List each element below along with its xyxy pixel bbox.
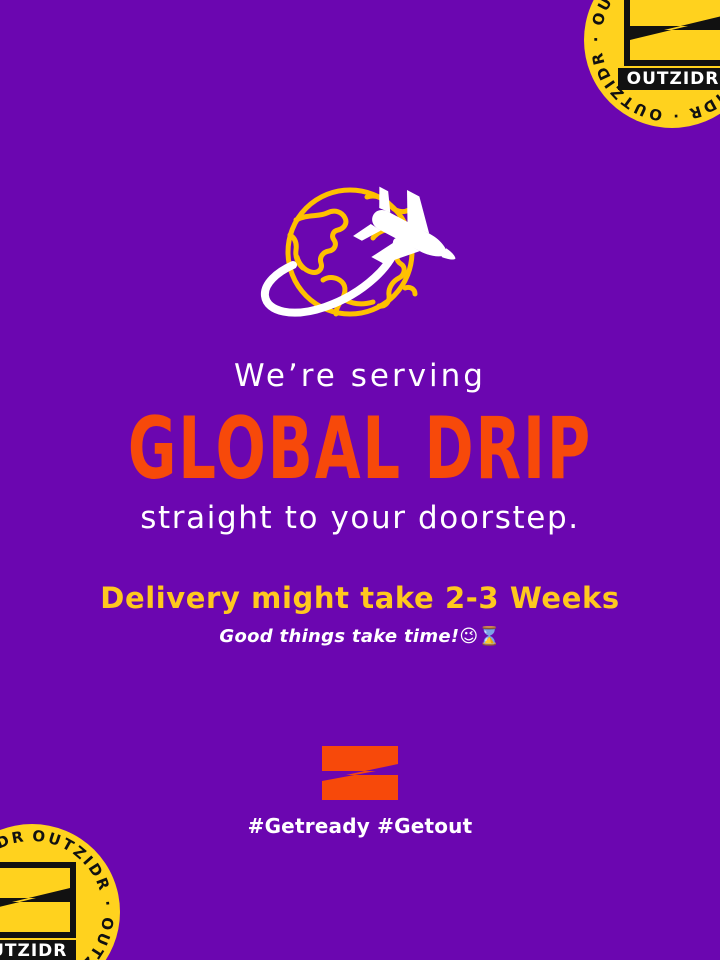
reassurance-line: Good things take time!😉⌛ bbox=[0, 627, 720, 646]
wink-hourglass-emoji: 😉⌛ bbox=[459, 626, 500, 647]
globe-airplane-icon bbox=[245, 180, 475, 345]
delivery-notice: Delivery might take 2-3 Weeks bbox=[0, 583, 720, 614]
outzidr-z-logo bbox=[320, 744, 400, 802]
page-title: GLOBAL DRIP bbox=[22, 406, 699, 491]
stamp-badge-top-right: OUTZIDR · OUTZIDR · OUTZIDR · OUTZIDR · … bbox=[582, 0, 720, 130]
reassurance-text: Good things take time! bbox=[219, 626, 459, 647]
hero-graphic bbox=[0, 172, 720, 352]
badge-wordmark: OUTZIDR bbox=[0, 941, 67, 960]
badge-wordmark: OUTZIDR bbox=[627, 69, 720, 89]
promo-poster: We’re serving GLOBAL DRIP straight to yo… bbox=[0, 0, 720, 960]
stamp-badge-bottom-left: OUTZIDR · OUTZIDR · OUTZIDR · OUTZIDR · … bbox=[0, 822, 122, 960]
copy-block: We’re serving GLOBAL DRIP straight to yo… bbox=[0, 360, 720, 647]
subhead-text: straight to your doorstep. bbox=[0, 502, 720, 535]
outzidr-stamp-icon: OUTZIDR · OUTZIDR · OUTZIDR · OUTZIDR · … bbox=[0, 822, 122, 960]
outzidr-stamp-icon: OUTZIDR · OUTZIDR · OUTZIDR · OUTZIDR · … bbox=[582, 0, 720, 130]
eyebrow-text: We’re serving bbox=[0, 360, 720, 393]
